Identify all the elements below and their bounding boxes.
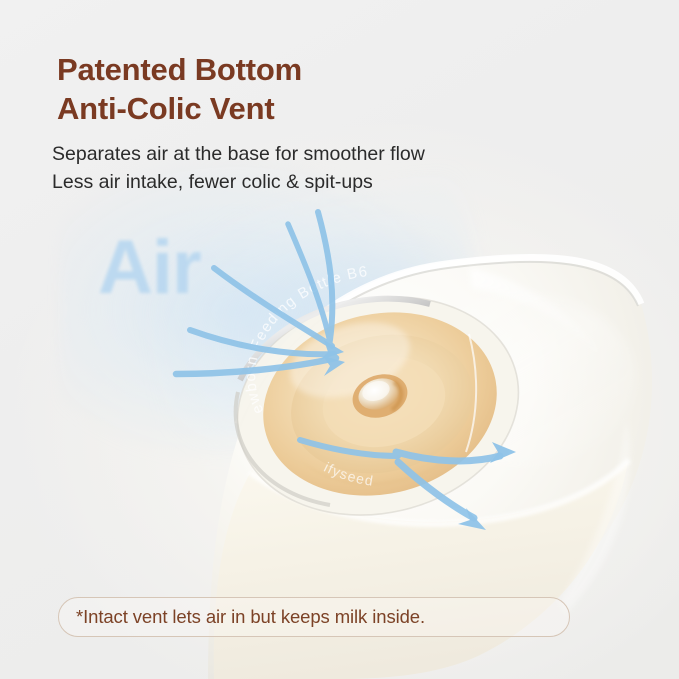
embossed-top-text: ewborn Feeding Bottle B6 (242, 263, 369, 417)
page-title-line-1: Patented Bottom (57, 52, 302, 87)
footnote-text: *Intact vent lets air in but keeps milk … (59, 606, 425, 628)
page-subtitle-line-2: Less air intake, fewer colic & spit-ups (52, 169, 632, 197)
embossed-bottom-text: ifyseed (322, 459, 376, 489)
page-title: Patented Bottom Anti-Colic Vent (57, 50, 617, 129)
page-subtitle-line-1: Separates air at the base for smoother f… (52, 141, 632, 169)
air-label: Air (98, 224, 201, 311)
page-title-line-2: Anti-Colic Vent (57, 89, 617, 128)
footnote-badge: *Intact vent lets air in but keeps milk … (58, 597, 570, 637)
page-subtitle: Separates air at the base for smoother f… (52, 141, 632, 196)
product-feature-card: ewborn Feeding Bottle B6 ifyseed (0, 0, 679, 679)
